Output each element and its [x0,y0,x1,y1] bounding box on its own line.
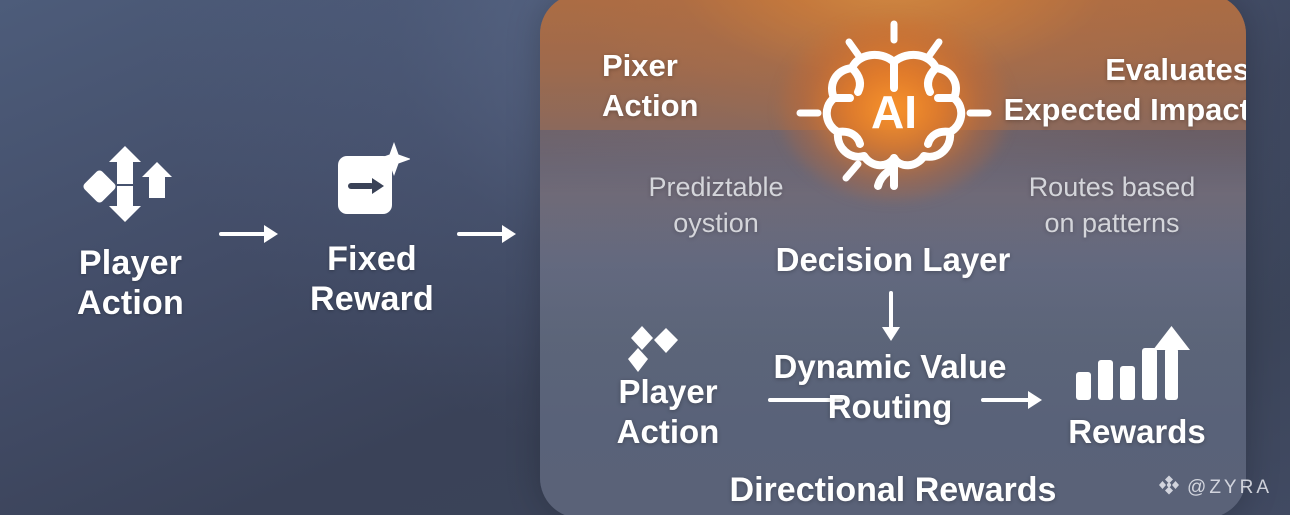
document-arrow-sparkle-icon [262,140,482,227]
evaluates-impact-heading: Evaluates Expected Impact [980,50,1246,129]
traditional-flow-section: Player Action Fixed Rewar [0,0,540,515]
arrow-right-icon [981,398,1039,402]
ai-decision-panel: AI Pixer Action Prediztable oystion Eval… [540,0,1246,515]
routes-note: Routes based on patterns [982,170,1242,241]
directional-rewards-footer: Directional Rewards [688,471,1098,510]
decision-layer-label: Decision Layer [713,240,1073,280]
multi-direction-arrows-icon [18,140,243,231]
pixer-action-heading: Pixer Action [602,46,842,125]
zyra-diamond-logo-icon [1158,474,1180,501]
arrow-down-icon [889,291,893,331]
watermark: @ZYRA [1158,474,1272,501]
node-label: Fixed Reward [262,239,482,319]
arrow-right-icon [457,232,513,236]
node-fixed-reward: Fixed Reward [262,140,482,319]
watermark-handle: @ZYRA [1187,477,1272,499]
dynamic-value-routing-label: Dynamic Value Routing [730,347,1050,426]
node-player-action-left: Player Action [18,140,243,323]
node-label: Player Action [18,243,243,323]
rewards-label: Rewards [1032,412,1242,452]
brain-ai-label: AI [871,86,917,138]
bar-chart-up-arrow-icon [1072,326,1192,411]
diagram-canvas: Player Action Fixed Rewar [0,0,1290,515]
predictable-note: Prediztable oystion [576,170,856,241]
